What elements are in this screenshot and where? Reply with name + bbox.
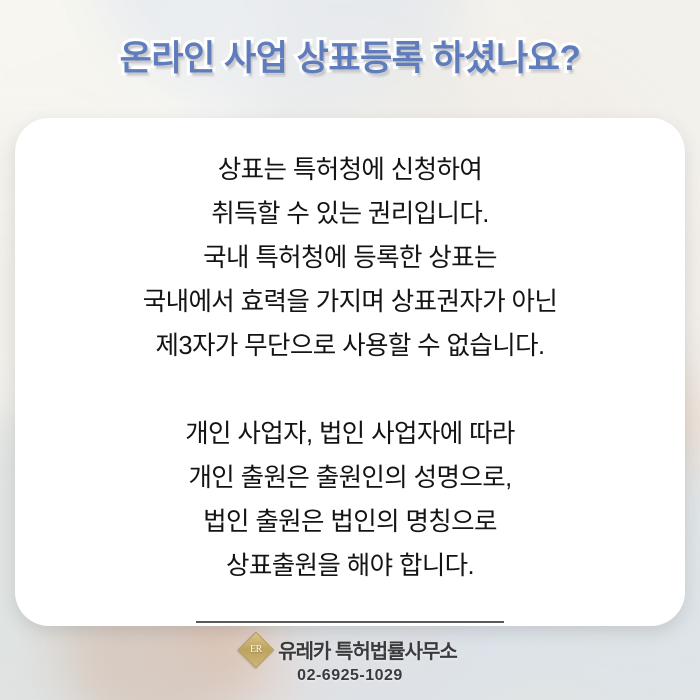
- body-line: 국내 특허청에 등록한 상표는: [15, 236, 685, 280]
- body-line: 법인 출원은 법인의 명칭으로: [15, 500, 685, 544]
- body-line: 취득할 수 있는 권리입니다.: [15, 192, 685, 236]
- body-line: 제3자가 무단으로 사용할 수 없습니다.: [15, 324, 685, 368]
- phone-number: 02-6925-1029: [297, 667, 403, 685]
- paragraph-1: 상표는 특허청에 신청하여 취득할 수 있는 권리입니다. 국내 특허청에 등록…: [15, 148, 685, 368]
- body-line: 상표는 특허청에 신청하여: [15, 148, 685, 192]
- content-card: 상표는 특허청에 신청하여 취득할 수 있는 권리입니다. 국내 특허청에 등록…: [15, 118, 685, 626]
- body-line: 개인 출원은 출원인의 성명으로,: [15, 456, 685, 500]
- footer: ER 유레카 특허법률사무소 02-6925-1029: [0, 635, 700, 685]
- body-line: 개인 사업자, 법인 사업자에 따라: [15, 412, 685, 456]
- body-line: 상표출원을 해야 합니다.: [15, 544, 685, 588]
- firm-name: 유레카 특허법률사무소: [278, 635, 457, 664]
- footer-divider: [196, 621, 504, 623]
- body-copy: 상표는 특허청에 신청하여 취득할 수 있는 권리입니다. 국내 특허청에 등록…: [15, 148, 685, 588]
- logo-monogram: ER: [250, 645, 262, 655]
- paragraph-2: 개인 사업자, 법인 사업자에 따라 개인 출원은 출원인의 성명으로, 법인 …: [15, 412, 685, 588]
- page-title: 온라인 사업 상표등록 하셨나요?: [0, 35, 700, 82]
- brand-row: ER 유레카 특허법률사무소: [243, 635, 457, 664]
- paragraph-spacer: [15, 368, 685, 412]
- body-line: 국내에서 효력을 가지며 상표권자가 아닌: [15, 280, 685, 324]
- diamond-logo-icon: ER: [238, 631, 275, 668]
